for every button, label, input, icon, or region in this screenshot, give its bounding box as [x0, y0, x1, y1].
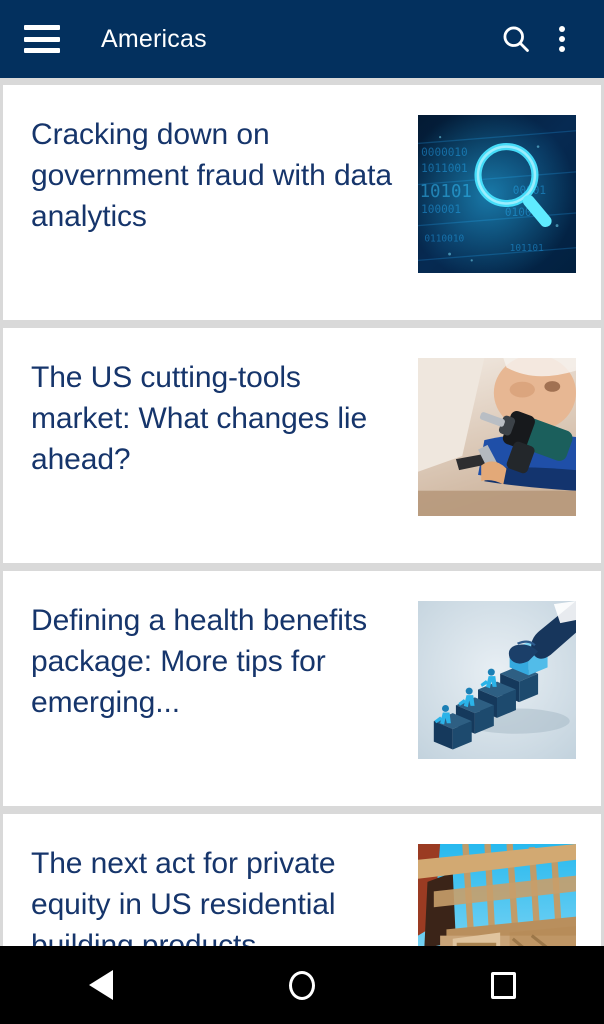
recents-square	[491, 972, 516, 999]
figures-climbing-blocks-illustration	[418, 601, 576, 759]
article-title: Defining a health benefits package: More…	[31, 591, 418, 723]
home-circle	[289, 971, 315, 1000]
search-icon[interactable]	[490, 13, 542, 65]
article-title: The US cutting-tools market: What change…	[31, 348, 418, 480]
hamburger-bar	[24, 25, 60, 30]
android-navigation-bar	[0, 946, 604, 1024]
recents-icon[interactable]	[461, 954, 545, 1016]
article-title: The next act for private equity in US re…	[31, 834, 418, 946]
digital-binary-magnifier-image: 0000010 1011001 10101 00001 100001 01001…	[418, 115, 576, 273]
overflow-dot	[559, 26, 565, 32]
app-bar-actions	[490, 13, 582, 65]
article-title: Cracking down on government fraud with d…	[31, 105, 418, 237]
app-root: Americas Cracking down on government fra…	[0, 0, 604, 1024]
article-card[interactable]: Defining a health benefits package: More…	[3, 571, 601, 806]
hamburger-bar	[24, 48, 60, 53]
overflow-dot	[559, 36, 565, 42]
hamburger-menu-icon[interactable]	[24, 25, 60, 53]
page-title: Americas	[101, 25, 490, 54]
overflow-dot	[559, 46, 565, 52]
article-feed[interactable]: Cracking down on government fraud with d…	[0, 78, 604, 946]
article-card[interactable]: The next act for private equity in US re…	[3, 814, 601, 946]
more-vertical-icon[interactable]	[542, 13, 582, 65]
home-icon[interactable]	[260, 954, 344, 1016]
back-icon[interactable]	[59, 954, 143, 1016]
article-card[interactable]: Cracking down on government fraud with d…	[3, 85, 601, 320]
back-triangle	[89, 970, 113, 1000]
article-card[interactable]: The US cutting-tools market: What change…	[3, 328, 601, 563]
app-bar: Americas	[0, 0, 604, 78]
worker-power-drill-image	[418, 358, 576, 516]
hamburger-bar	[24, 37, 60, 42]
wood-roof-framing-image	[418, 844, 576, 946]
overflow-dots	[559, 26, 565, 52]
